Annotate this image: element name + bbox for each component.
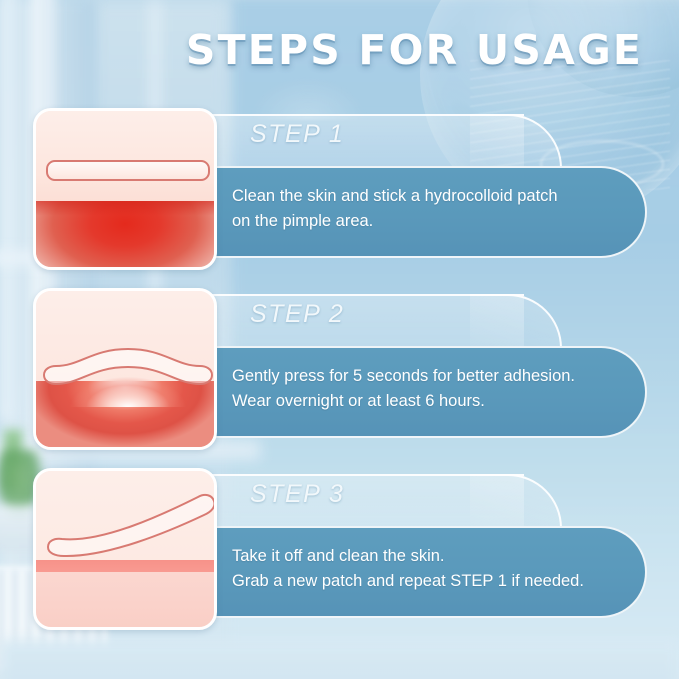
step-body-line: Gently press for 5 seconds for better ad… xyxy=(232,364,632,389)
skin-healed-layer xyxy=(36,572,214,627)
skin-upper-layer xyxy=(36,111,214,201)
step-tab-curve-2 xyxy=(470,294,562,348)
step-body-line: Clean the skin and stick a hydrocolloid … xyxy=(232,184,632,209)
step-body-line: Take it off and clean the skin. xyxy=(232,544,632,569)
step-label-3: STEP 3 xyxy=(250,480,344,509)
step-row-3: Take it off and clean the skin. Grab a n… xyxy=(0,460,679,640)
step-label-1: STEP 1 xyxy=(250,120,344,149)
page-title: STEPS FOR USAGE xyxy=(0,26,679,74)
step-body-line: Grab a new patch and repeat STEP 1 if ne… xyxy=(232,569,632,594)
step-label-2: STEP 2 xyxy=(250,300,344,329)
step-illustration-1 xyxy=(33,108,217,270)
step-body-text-2: Gently press for 5 seconds for better ad… xyxy=(232,364,632,414)
skin-inflamed-layer xyxy=(36,201,214,267)
step-body-text-3: Take it off and clean the skin. Grab a n… xyxy=(232,544,632,594)
hydrocolloid-patch-icon xyxy=(46,160,210,181)
step-body-text-1: Clean the skin and stick a hydrocolloid … xyxy=(232,184,632,234)
infographic-stage: STEPS FOR USAGE Clean the skin and stick… xyxy=(0,0,679,679)
step-tab-curve-1 xyxy=(470,114,562,168)
hydrocolloid-patch-icon xyxy=(40,343,216,385)
hydrocolloid-patch-icon xyxy=(42,485,217,565)
step-row-1: Clean the skin and stick a hydrocolloid … xyxy=(0,100,679,280)
step-row-2: Gently press for 5 seconds for better ad… xyxy=(0,280,679,460)
step-tab-curve-3 xyxy=(470,474,562,528)
step-body-line: on the pimple area. xyxy=(232,209,632,234)
step-illustration-2 xyxy=(33,288,217,450)
step-illustration-3 xyxy=(33,468,217,630)
step-body-line: Wear overnight or at least 6 hours. xyxy=(232,389,632,414)
